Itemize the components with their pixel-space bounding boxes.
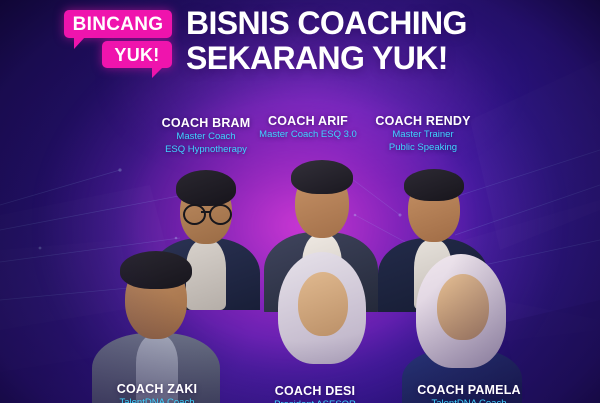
- coach-name-desi: COACH DESI: [240, 384, 390, 398]
- coach-role-rendy-line1: Master Trainer: [355, 129, 491, 141]
- coach-role-bram-line2: ESQ Hypnotherapy: [128, 144, 284, 156]
- coach-role-zaki-line1: TalentDNA Coach: [68, 397, 246, 403]
- coach-name-zaki: COACH ZAKI: [68, 382, 246, 396]
- headline: BISNIS COACHING SEKARANG YUK!: [186, 6, 586, 76]
- speech-bubble-tail-1: [74, 37, 85, 49]
- poster-canvas: BINCANG YUK! BISNIS COACHING SEKARANG YU…: [0, 0, 600, 403]
- coach-role-desi-line1: President ASESOR: [240, 399, 390, 403]
- logo-bubble-yuk: YUK!: [102, 41, 172, 68]
- coach-label-rendy: COACH RENDY Master Trainer Public Speaki…: [355, 114, 491, 154]
- logo-bubble-bincang: BINCANG: [64, 10, 172, 38]
- coach-role-rendy-line2: Public Speaking: [355, 142, 491, 154]
- coach-label-pamela: COACH PAMELA TalentDNA Coach: [388, 383, 550, 403]
- coach-name-rendy: COACH RENDY: [355, 114, 491, 128]
- coach-role-pamela-line1: TalentDNA Coach: [388, 398, 550, 403]
- headline-line-1: BISNIS COACHING: [186, 5, 467, 41]
- coach-label-desi: COACH DESI President ASESOR: [240, 384, 390, 403]
- coach-name-pamela: COACH PAMELA: [388, 383, 550, 397]
- headline-line-2: SEKARANG YUK!: [186, 41, 586, 76]
- bincang-yuk-logo: BINCANG YUK!: [60, 8, 178, 70]
- coach-label-zaki: COACH ZAKI TalentDNA Coach: [68, 382, 246, 403]
- speech-bubble-tail-2: [152, 67, 163, 78]
